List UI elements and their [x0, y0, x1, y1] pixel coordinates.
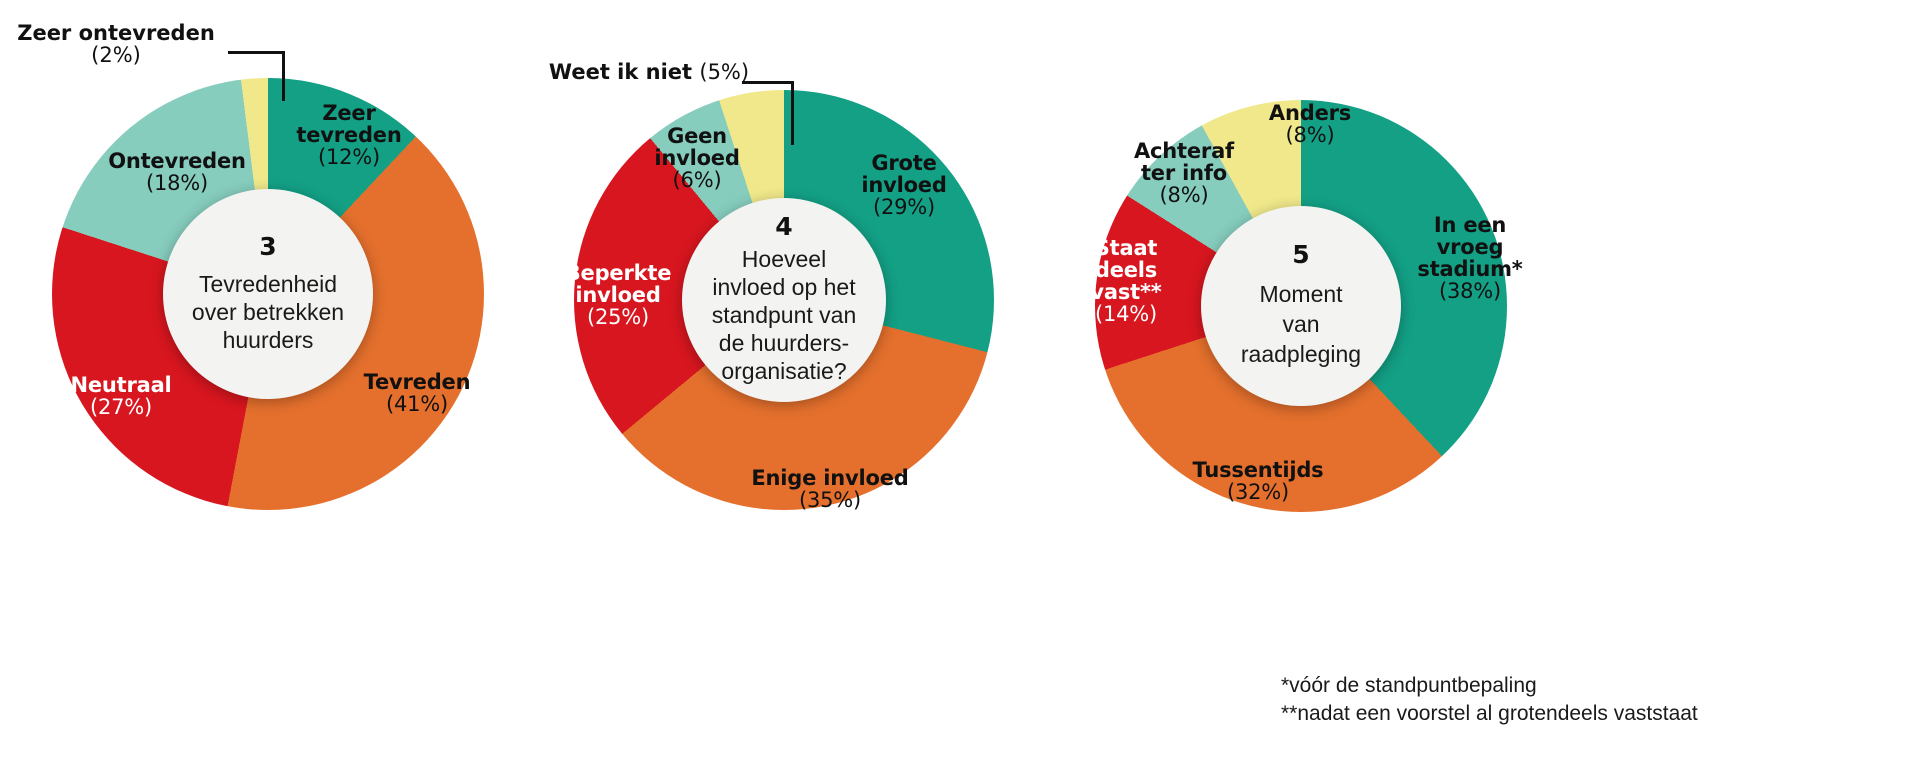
chart-title-2: Hoeveel invloed op het standpunt van de … — [712, 246, 857, 385]
slice-label-pct: (41%) — [364, 393, 471, 415]
slice-label-neutraal: Neutraal (27%) — [70, 352, 171, 440]
slice-label-text: Tevreden — [364, 370, 471, 394]
slice-label-staat-deels-vast: Staat deels vast** (14%) — [1090, 215, 1161, 347]
slice-label-pct: (14%) — [1090, 303, 1161, 325]
slice-label-text: In een vroeg stadium* — [1417, 213, 1522, 281]
slice-label-tussentijds: Tussentijds (32%) — [1193, 437, 1324, 525]
slice-label-text: Neutraal — [70, 373, 171, 397]
callout-label-pct: (2%) — [17, 44, 215, 66]
slice-label-zeer-tevreden: Zeer tevreden (12%) — [296, 80, 401, 190]
donut-center-1: 3 Tevredenheid over betrekken huurders — [163, 189, 373, 399]
slice-label-pct: (12%) — [296, 146, 401, 168]
callout-label-text: Zeer ontevreden — [17, 21, 215, 45]
slice-label-pct: (25%) — [565, 306, 672, 328]
callout-label-pct: (5%) — [699, 60, 749, 84]
callout-label-weet-ik-niet: Weet ik niet (5%) — [549, 61, 749, 83]
callout-line-horizontal — [742, 81, 794, 84]
donut-center-3: 5 Moment van raadpleging — [1201, 206, 1401, 406]
callout-label-text: Weet ik niet — [549, 60, 692, 84]
slice-label-pct: (18%) — [108, 172, 246, 194]
slice-label-ontevreden: Ontevreden (18%) — [108, 128, 246, 216]
slice-label-text: Staat deels vast** — [1090, 236, 1161, 304]
slice-label-pct: (8%) — [1134, 184, 1234, 206]
slice-label-pct: (38%) — [1417, 280, 1522, 302]
callout-line-vertical — [282, 51, 285, 101]
slice-label-grote-invloed: Grote invloed (29%) — [861, 130, 946, 240]
slice-label-text: Enige invloed — [751, 466, 908, 490]
callout-line-horizontal — [228, 51, 285, 54]
chart-title-1: Tevredenheid over betrekken huurders — [192, 270, 344, 354]
slice-label-text: Grote invloed — [861, 151, 946, 197]
donut-center-2: 4 Hoeveel invloed op het standpunt van d… — [682, 198, 886, 402]
slice-label-text: Achteraf ter info — [1134, 139, 1234, 185]
slice-label-tevreden: Tevreden (41%) — [364, 349, 471, 437]
slice-label-text: Tussentijds — [1193, 458, 1324, 482]
slice-label-text: Zeer tevreden — [296, 101, 401, 147]
callout-weet-ik-niet — [520, 0, 860, 180]
infographic-canvas: 3 Tevredenheid over betrekken huurders Z… — [0, 0, 1920, 765]
slice-label-beperkte-invloed: Beperkte invloed (25%) — [565, 240, 672, 350]
footnotes: *vóór de standpuntbepaling **nadat een v… — [1281, 672, 1698, 729]
slice-label-pct: (27%) — [70, 396, 171, 418]
slice-label-text: Ontevreden — [108, 149, 246, 173]
slice-label-pct: (35%) — [751, 489, 908, 511]
slice-label-enige-invloed: Enige invloed (35%) — [751, 445, 908, 533]
slice-label-pct: (8%) — [1269, 124, 1351, 146]
footnote-line-1: *vóór de standpuntbepaling — [1281, 672, 1698, 700]
chart-number-2: 4 — [775, 214, 792, 239]
callout-label-zeer-ontevreden: Zeer ontevreden (2%) — [17, 0, 215, 88]
slice-label-text: Beperkte invloed — [565, 261, 672, 307]
chart-title-3: Moment van raadpleging — [1241, 280, 1361, 370]
slice-label-achteraf-ter-info: Achteraf ter info (8%) — [1134, 118, 1234, 228]
slice-label-anders: Anders (8%) — [1269, 80, 1351, 168]
chart-number-1: 3 — [259, 234, 276, 259]
footnote-line-2: **nadat een voorstel al grotendeels vast… — [1281, 700, 1698, 728]
slice-label-text: Anders — [1269, 101, 1351, 125]
slice-label-in-een-vroeg-stadium: In een vroeg stadium* (38%) — [1417, 192, 1522, 324]
chart-number-3: 5 — [1292, 242, 1309, 267]
callout-line-vertical — [791, 81, 794, 145]
slice-label-pct: (32%) — [1193, 481, 1324, 503]
slice-label-pct: (29%) — [861, 196, 946, 218]
